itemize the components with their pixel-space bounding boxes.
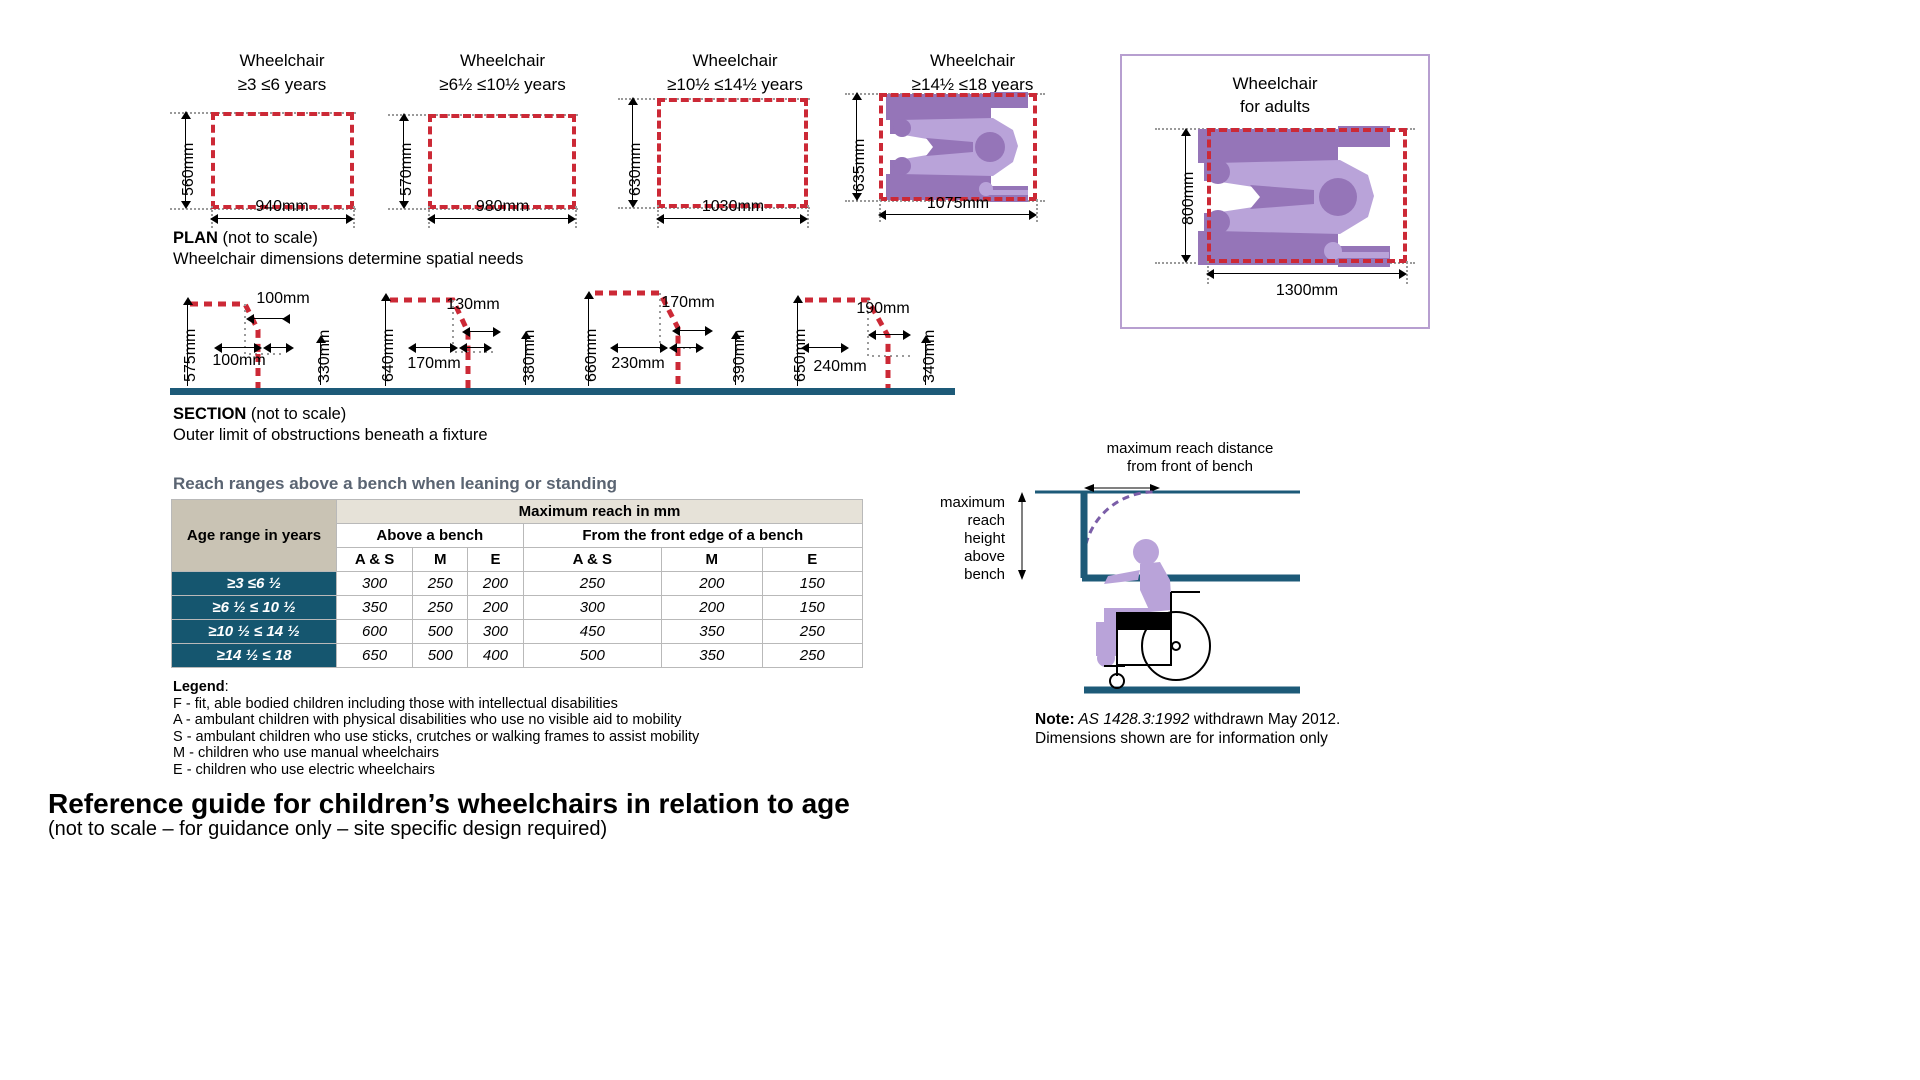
section-top-dim-3: 170mm bbox=[645, 294, 731, 312]
section-top-dim-4: 190mm bbox=[840, 300, 926, 318]
section-top-arrow-right-2 bbox=[493, 327, 501, 337]
cell-2-1: 500 bbox=[413, 620, 468, 644]
plan-title-1-line1: Wheelchair bbox=[212, 49, 352, 73]
adults-height-arrow-down bbox=[1181, 255, 1191, 263]
cell-2-3: 450 bbox=[523, 620, 662, 644]
plan-title-2: Wheelchair ≥6½ ≤10½ years bbox=[425, 49, 580, 97]
note-line2: Dimensions shown are for information onl… bbox=[1035, 729, 1340, 748]
plan-title-4-line1: Wheelchair bbox=[890, 49, 1055, 73]
table-header-row-1: Age range in years Maximum reach in mm bbox=[172, 500, 863, 524]
section-mid-dim-3: 230mm bbox=[592, 355, 684, 373]
section-top-arrow-left-1 bbox=[246, 314, 254, 324]
table-row: ≥10 ½ ≤ 14 ½ 600 500 300 450 350 250 bbox=[172, 620, 863, 644]
plan-width-arrow-left-3 bbox=[656, 214, 664, 224]
cell-1-1: 250 bbox=[413, 596, 468, 620]
section-top-arrow-left-4 bbox=[868, 330, 876, 340]
section-mid-arrow-left-2b bbox=[459, 343, 467, 353]
section-mid-arrow-left-1b bbox=[263, 343, 271, 353]
plan-height-label-1: 560mm bbox=[180, 143, 198, 196]
header-age-range: Age range in years bbox=[172, 500, 337, 572]
cell-2-5: 250 bbox=[762, 620, 863, 644]
section-mid-line-3 bbox=[615, 347, 665, 348]
cell-0-1: 250 bbox=[413, 572, 468, 596]
cell-1-0: 350 bbox=[337, 596, 413, 620]
cell-0-0: 300 bbox=[337, 572, 413, 596]
plan-width-arrow-right-2 bbox=[568, 214, 576, 224]
plan-height-arrow-down-1 bbox=[181, 201, 191, 209]
plan-box-3 bbox=[657, 98, 808, 208]
cell-3-5: 250 bbox=[762, 644, 863, 668]
header-sub-5: E bbox=[762, 548, 863, 572]
section-caption-text: Outer limit of obstructions beneath a fi… bbox=[173, 425, 488, 446]
legend-title: Legend bbox=[173, 679, 225, 695]
section-mid-arrow-left-4 bbox=[801, 343, 809, 353]
plan-caption-text: Wheelchair dimensions determine spatial … bbox=[173, 249, 523, 270]
adults-title-line1: Wheelchair bbox=[1122, 72, 1428, 95]
row-age-0: ≥3 ≤6 ½ bbox=[172, 572, 337, 596]
legend-block: Legend: F - fit, able bodied children in… bbox=[173, 679, 699, 778]
cell-3-4: 350 bbox=[662, 644, 762, 668]
section-top-arrow-right-4 bbox=[903, 330, 911, 340]
cell-1-3: 300 bbox=[523, 596, 662, 620]
plan-width-arrow-left-2 bbox=[427, 214, 435, 224]
adults-title-line2: for adults bbox=[1122, 95, 1428, 118]
cell-3-0: 650 bbox=[337, 644, 413, 668]
plan-height-arrow-up-1 bbox=[181, 111, 191, 119]
page-title: Reference guide for children’s wheelchai… bbox=[48, 788, 850, 820]
plan-width-line-3 bbox=[661, 218, 804, 219]
cell-2-4: 350 bbox=[662, 620, 762, 644]
section-label-bold: SECTION bbox=[173, 405, 246, 423]
table-row: ≥3 ≤6 ½ 300 250 200 250 200 150 bbox=[172, 572, 863, 596]
reach-left-caption-line2: reach bbox=[905, 512, 1005, 530]
cell-1-4: 200 bbox=[662, 596, 762, 620]
section-top-dim-1: 100mm bbox=[240, 290, 326, 308]
legend-line-4: E - children who use electric wheelchair… bbox=[173, 762, 699, 779]
reach-left-caption-line3: height bbox=[905, 530, 1005, 548]
section-mid-arrow-right-4 bbox=[841, 343, 849, 353]
section-mid-arrow-left-2 bbox=[408, 343, 416, 353]
section-mid-arrow-left-3 bbox=[610, 343, 618, 353]
section-top-dim-2: 130mm bbox=[430, 296, 516, 314]
plan-height-label-3: 630mm bbox=[627, 143, 645, 196]
section-mid-dim-4: 240mm bbox=[794, 358, 886, 376]
table-row: ≥6 ½ ≤ 10 ½ 350 250 200 300 200 150 bbox=[172, 596, 863, 620]
plan-width-label-2: 980mm bbox=[440, 198, 565, 216]
legend-line-0: F - fit, able bodied children including … bbox=[173, 696, 699, 713]
reach-illustration-figure bbox=[1000, 480, 1310, 710]
row-age-3: ≥14 ½ ≤ 18 bbox=[172, 644, 337, 668]
plan-width-line-1 bbox=[215, 218, 350, 219]
plan-height-arrow-down-3 bbox=[628, 200, 638, 208]
section-top-arrow-left-2 bbox=[462, 327, 470, 337]
section-label-rest: (not to scale) bbox=[246, 405, 346, 423]
plan-box-4 bbox=[879, 93, 1037, 201]
adults-width-label: 1300mm bbox=[1244, 282, 1370, 300]
section-mid-arrow-right-1b bbox=[286, 343, 294, 353]
plan-height-arrow-down-2 bbox=[399, 201, 409, 209]
adults-width-arrow-right bbox=[1399, 269, 1407, 279]
legend-colon: : bbox=[225, 679, 229, 695]
note-bold: Note: bbox=[1035, 711, 1075, 728]
plan-title-1-line2: ≥3 ≤6 years bbox=[212, 73, 352, 97]
section-height-arrow-4 bbox=[793, 295, 803, 303]
plan-title-3-line2: ≥10½ ≤14½ years bbox=[655, 73, 815, 97]
section-mid-dim-2: 170mm bbox=[388, 355, 480, 373]
reach-ranges-table: Age range in years Maximum reach in mm A… bbox=[171, 499, 863, 668]
plan-height-arrow-up-4 bbox=[852, 92, 862, 100]
section-top-arrow-left-3 bbox=[672, 326, 680, 336]
adults-title: Wheelchair for adults bbox=[1122, 72, 1428, 118]
legend-line-2: S - ambulant children who use sticks, cr… bbox=[173, 729, 699, 746]
row-age-2: ≥10 ½ ≤ 14 ½ bbox=[172, 620, 337, 644]
section-mid-arrow-left-3b bbox=[669, 343, 677, 353]
cell-0-3: 250 bbox=[523, 572, 662, 596]
cell-1-2: 200 bbox=[468, 596, 523, 620]
plan-width-label-3: 1030mm bbox=[668, 198, 798, 216]
plan-height-label-4: 635mm bbox=[851, 139, 869, 192]
table-row: ≥14 ½ ≤ 18 650 500 400 500 350 250 bbox=[172, 644, 863, 668]
section-mid-arrow-right-2b bbox=[484, 343, 492, 353]
header-sub-3: A & S bbox=[523, 548, 662, 572]
reach-table-heading: Reach ranges above a bench when leaning … bbox=[173, 474, 617, 494]
plan-width-arrow-right-4 bbox=[1029, 210, 1037, 220]
plan-height-arrow-up-2 bbox=[399, 113, 409, 121]
reach-left-caption-line1: maximum bbox=[905, 494, 1005, 512]
plan-title-2-line2: ≥6½ ≤10½ years bbox=[425, 73, 580, 97]
plan-width-label-4: 1075mm bbox=[892, 195, 1024, 213]
section-height-arrow-2 bbox=[381, 293, 391, 301]
plan-height-arrow-down-4 bbox=[852, 193, 862, 201]
legend-line-3: M - children who use manual wheelchairs bbox=[173, 745, 699, 762]
section-mid-dim-1: 100mm bbox=[193, 352, 285, 370]
legend-line-1: A - ambulant children with physical disa… bbox=[173, 712, 699, 729]
section-right-height-4: 340mm bbox=[921, 330, 939, 383]
reach-top-caption: maximum reach distance from front of ben… bbox=[1020, 440, 1360, 476]
cell-2-0: 600 bbox=[337, 620, 413, 644]
cell-3-3: 500 bbox=[523, 644, 662, 668]
plan-width-label-1: 940mm bbox=[222, 198, 342, 216]
section-right-height-2: 380mm bbox=[521, 330, 539, 383]
plan-title-3: Wheelchair ≥10½ ≤14½ years bbox=[655, 49, 815, 97]
section-height-arrow-1 bbox=[183, 297, 193, 305]
adults-height-label: 800mm bbox=[1180, 172, 1198, 225]
plan-box-2 bbox=[428, 114, 576, 209]
cell-1-5: 150 bbox=[762, 596, 863, 620]
plan-height-arrow-up-3 bbox=[628, 97, 638, 105]
cell-3-1: 500 bbox=[413, 644, 468, 668]
diagram-canvas: Wheelchair ≥3 ≤6 years 560mm 940mm Wheel… bbox=[0, 0, 1920, 1080]
cell-0-5: 150 bbox=[762, 572, 863, 596]
note-italic: AS 1428.3:1992 bbox=[1075, 711, 1190, 728]
header-sub-2: E bbox=[468, 548, 523, 572]
plan-width-line-4 bbox=[883, 214, 1033, 215]
header-group-above: Above a bench bbox=[337, 524, 524, 548]
plan-box-1 bbox=[211, 112, 354, 209]
section-mid-arrow-right-3b bbox=[696, 343, 704, 353]
cell-3-2: 400 bbox=[468, 644, 523, 668]
adults-width-arrow-left bbox=[1206, 269, 1214, 279]
section-top-line-1 bbox=[250, 318, 286, 319]
section-mid-line-4 bbox=[806, 347, 846, 348]
header-sub-1: M bbox=[413, 548, 468, 572]
section-mid-arrow-right-2 bbox=[450, 343, 458, 353]
plan-width-arrow-left-4 bbox=[878, 210, 886, 220]
header-max-reach: Maximum reach in mm bbox=[337, 500, 863, 524]
reach-left-caption-line5: bench bbox=[905, 566, 1005, 584]
cell-0-4: 200 bbox=[662, 572, 762, 596]
section-right-height-3: 390mm bbox=[731, 330, 749, 383]
reach-left-caption: maximum reach height above bench bbox=[905, 494, 1005, 584]
header-sub-0: A & S bbox=[337, 548, 413, 572]
section-top-arrow-right-3 bbox=[705, 326, 713, 336]
header-sub-4: M bbox=[662, 548, 762, 572]
section-mid-line-2 bbox=[413, 347, 455, 348]
adults-width-line bbox=[1211, 273, 1403, 274]
section-right-height-1: 330mm bbox=[316, 330, 334, 383]
page-subtitle: (not to scale – for guidance only – site… bbox=[48, 818, 607, 841]
section-mid-arrow-right-3 bbox=[660, 343, 668, 353]
plan-width-arrow-right-1 bbox=[346, 214, 354, 224]
reach-note: Note: AS 1428.3:1992 withdrawn May 2012.… bbox=[1035, 710, 1340, 748]
section-top-arrow-left-1b bbox=[282, 314, 290, 324]
plan-label-bold: PLAN bbox=[173, 229, 218, 247]
adults-plan-box bbox=[1207, 128, 1407, 263]
reach-left-caption-line4: above bbox=[905, 548, 1005, 566]
cell-2-2: 300 bbox=[468, 620, 523, 644]
adults-height-arrow-up bbox=[1181, 128, 1191, 136]
reach-top-caption-line1: maximum reach distance bbox=[1020, 440, 1360, 458]
plan-title-3-line1: Wheelchair bbox=[655, 49, 815, 73]
reach-top-caption-line2: from front of bench bbox=[1020, 458, 1360, 476]
plan-label-rest: (not to scale) bbox=[218, 229, 318, 247]
plan-width-line-2 bbox=[432, 218, 572, 219]
row-age-1: ≥6 ½ ≤ 10 ½ bbox=[172, 596, 337, 620]
plan-caption: PLAN (not to scale) Wheelchair dimension… bbox=[173, 228, 523, 270]
section-caption: SECTION (not to scale) Outer limit of ob… bbox=[173, 404, 488, 446]
section-height-arrow-3 bbox=[584, 291, 594, 299]
cell-0-2: 200 bbox=[468, 572, 523, 596]
header-group-front: From the front edge of a bench bbox=[523, 524, 862, 548]
plan-width-arrow-right-3 bbox=[800, 214, 808, 224]
note-rest: withdrawn May 2012. bbox=[1190, 711, 1341, 728]
plan-width-arrow-left-1 bbox=[210, 214, 218, 224]
plan-title-1: Wheelchair ≥3 ≤6 years bbox=[212, 49, 352, 97]
section-mid-line-1 bbox=[219, 347, 259, 348]
plan-title-2-line1: Wheelchair bbox=[425, 49, 580, 73]
plan-height-label-2: 570mm bbox=[398, 143, 416, 196]
